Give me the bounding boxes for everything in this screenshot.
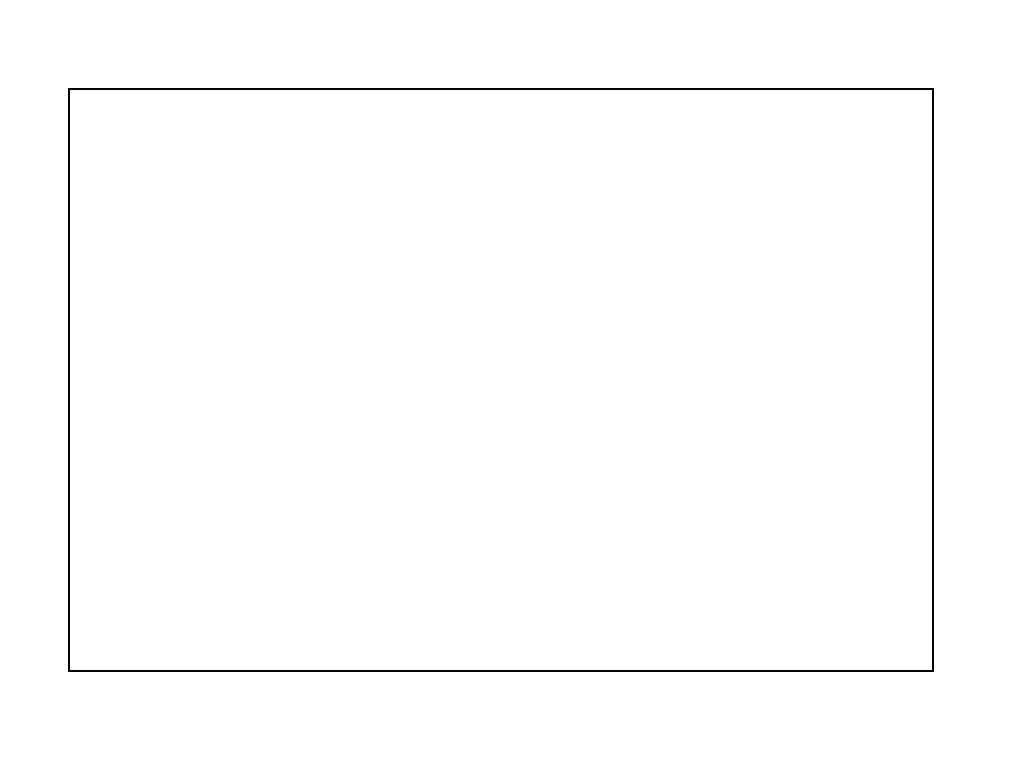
colorbar <box>941 296 967 472</box>
chart-root <box>0 0 1024 768</box>
x-axis <box>0 0 1024 768</box>
